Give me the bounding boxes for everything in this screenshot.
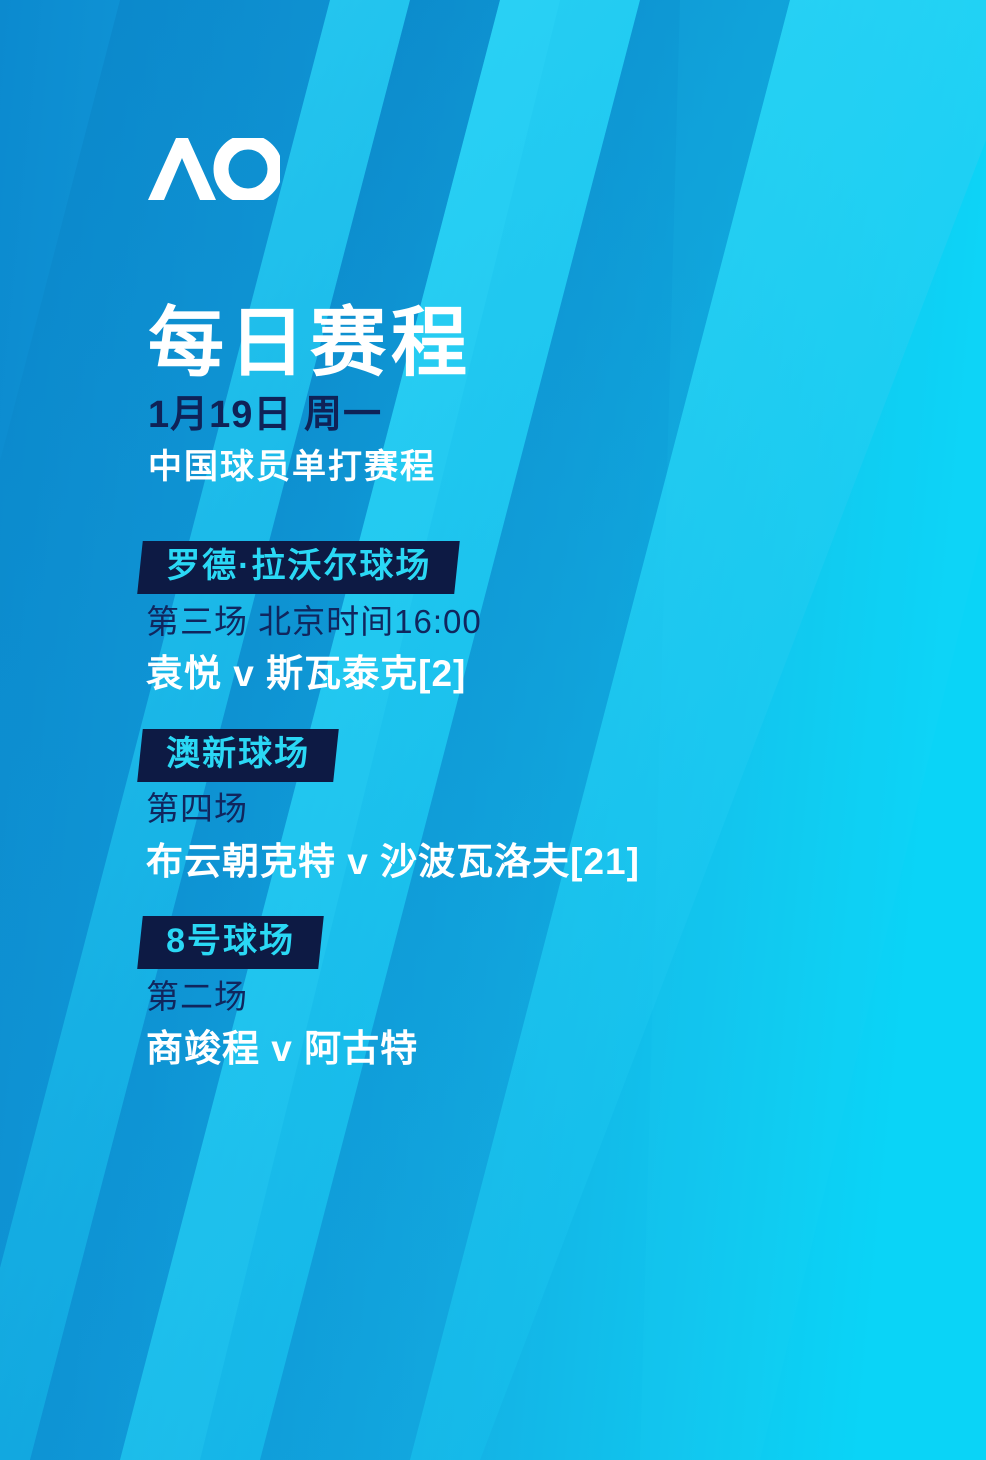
match-meta: 第三场 北京时间16:00 (146, 604, 960, 640)
schedule-subtitle: 中国球员单打赛程 (148, 450, 848, 484)
court-name: 罗德·拉沃尔球场 (166, 548, 431, 585)
poster-content: AO 每日赛程 1月19日 周一 中国球员单打赛程 罗德·拉沃尔球场 第三场 北… (0, 0, 986, 1460)
page-title: 每日赛程 (148, 306, 848, 382)
court-badge: 8号球场 (137, 916, 323, 969)
match-players: 袁悦 v 斯瓦泰克[2] (146, 654, 960, 695)
logo-letter-a (148, 138, 216, 200)
match-meta: 第四场 (146, 791, 960, 827)
match-item: 澳新球场 第四场 布云朝克特 v 沙波瓦洛夫[21] (140, 729, 960, 883)
court-name: 澳新球场 (166, 736, 310, 773)
match-list: 罗德·拉沃尔球场 第三场 北京时间16:00 袁悦 v 斯瓦泰克[2] 澳新球场… (140, 541, 960, 1070)
headline-block: 每日赛程 1月19日 周一 中国球员单打赛程 (148, 306, 848, 484)
court-badge: 罗德·拉沃尔球场 (137, 541, 460, 594)
schedule-date: 1月19日 周一 (148, 396, 848, 434)
poster-canvas: AO 每日赛程 1月19日 周一 中国球员单打赛程 罗德·拉沃尔球场 第三场 北… (0, 0, 986, 1460)
match-players: 商竣程 v 阿古特 (146, 1029, 960, 1070)
court-name: 8号球场 (166, 923, 295, 960)
logo-letter-o (221, 142, 275, 196)
match-players: 布云朝克特 v 沙波瓦洛夫[21] (146, 842, 960, 883)
match-meta: 第二场 (146, 979, 960, 1015)
ao-logo: AO (148, 138, 280, 200)
match-item: 8号球场 第二场 商竣程 v 阿古特 (140, 916, 960, 1070)
court-badge: 澳新球场 (137, 729, 339, 782)
match-item: 罗德·拉沃尔球场 第三场 北京时间16:00 袁悦 v 斯瓦泰克[2] (140, 541, 960, 695)
